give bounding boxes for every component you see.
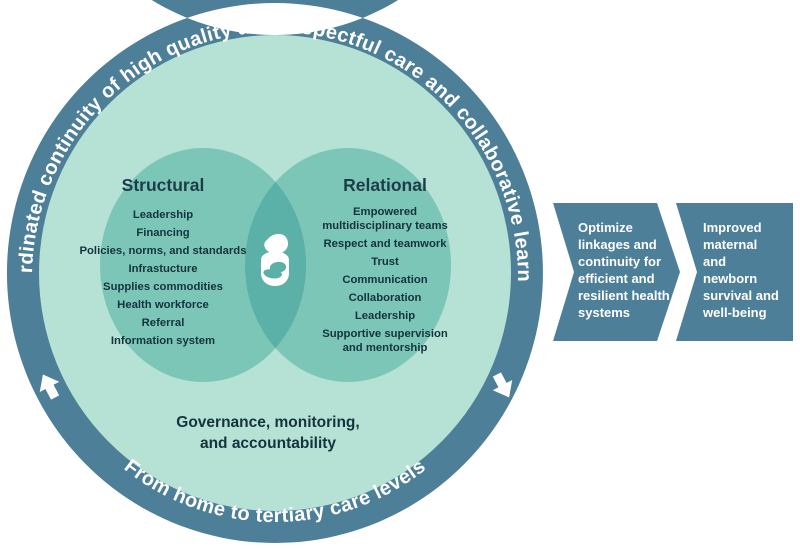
chevron-2-line-3: newborn [703, 271, 757, 286]
relational-item-1: multidisciplinary teams [322, 220, 448, 232]
relational-item-4: Communication [342, 274, 427, 286]
relational-item-7: Supportive supervision [322, 328, 448, 340]
chevron-2-line-2: and [703, 254, 726, 269]
relational-item-8: and mentorship [343, 342, 428, 354]
chevron-2-line-5: well-being [702, 305, 767, 320]
relational-item-3: Trust [371, 256, 399, 268]
governance-line-1: Governance, monitoring, [176, 414, 359, 431]
structural-item-0: Leadership [133, 209, 193, 221]
chevron-1-line-5: systems [578, 305, 630, 320]
structural-item-4: Supplies commodities [103, 281, 223, 293]
chevron-optimize-linkages[interactable]: Optimize linkages and continuity for eff… [553, 203, 680, 341]
structural-item-1: Financing [136, 227, 189, 239]
chevron-improved-outcomes[interactable]: Improved maternal and newborn survival a… [676, 203, 793, 341]
structural-item-3: Infrastucture [128, 263, 197, 275]
chevron-2-line-0: Improved [703, 220, 762, 235]
structural-item-2: Policies, norms, and standards [80, 245, 247, 257]
framework-diagram: Coordinated continuity of high quality a… [0, 0, 800, 549]
chevron-1-line-1: linkages and [578, 237, 657, 252]
chevron-2-line-4: survival and [703, 288, 779, 303]
diagram-canvas: Coordinated continuity of high quality a… [0, 0, 800, 549]
chevron-1-line-4: resilient health [578, 288, 670, 303]
governance-line-2: and accountability [200, 435, 336, 452]
chevron-1-line-2: continuity for [578, 254, 661, 269]
relational-item-5: Collaboration [349, 292, 422, 304]
relational-title: Relational [343, 175, 427, 195]
relational-item-2: Respect and teamwork [323, 238, 447, 250]
relational-item-0: Empowered [353, 206, 417, 218]
relational-item-6: Leadership [355, 310, 415, 322]
chevron-1-line-3: efficient and [578, 271, 655, 286]
structural-item-7: Information system [111, 335, 215, 347]
structural-title: Structural [122, 175, 205, 195]
mother-and-baby-icon [261, 234, 289, 286]
chevron-1-line-0: Optimize [578, 220, 633, 235]
chevron-2-line-1: maternal [703, 237, 757, 252]
structural-item-6: Referral [142, 317, 185, 329]
structural-item-5: Health workforce [117, 299, 209, 311]
